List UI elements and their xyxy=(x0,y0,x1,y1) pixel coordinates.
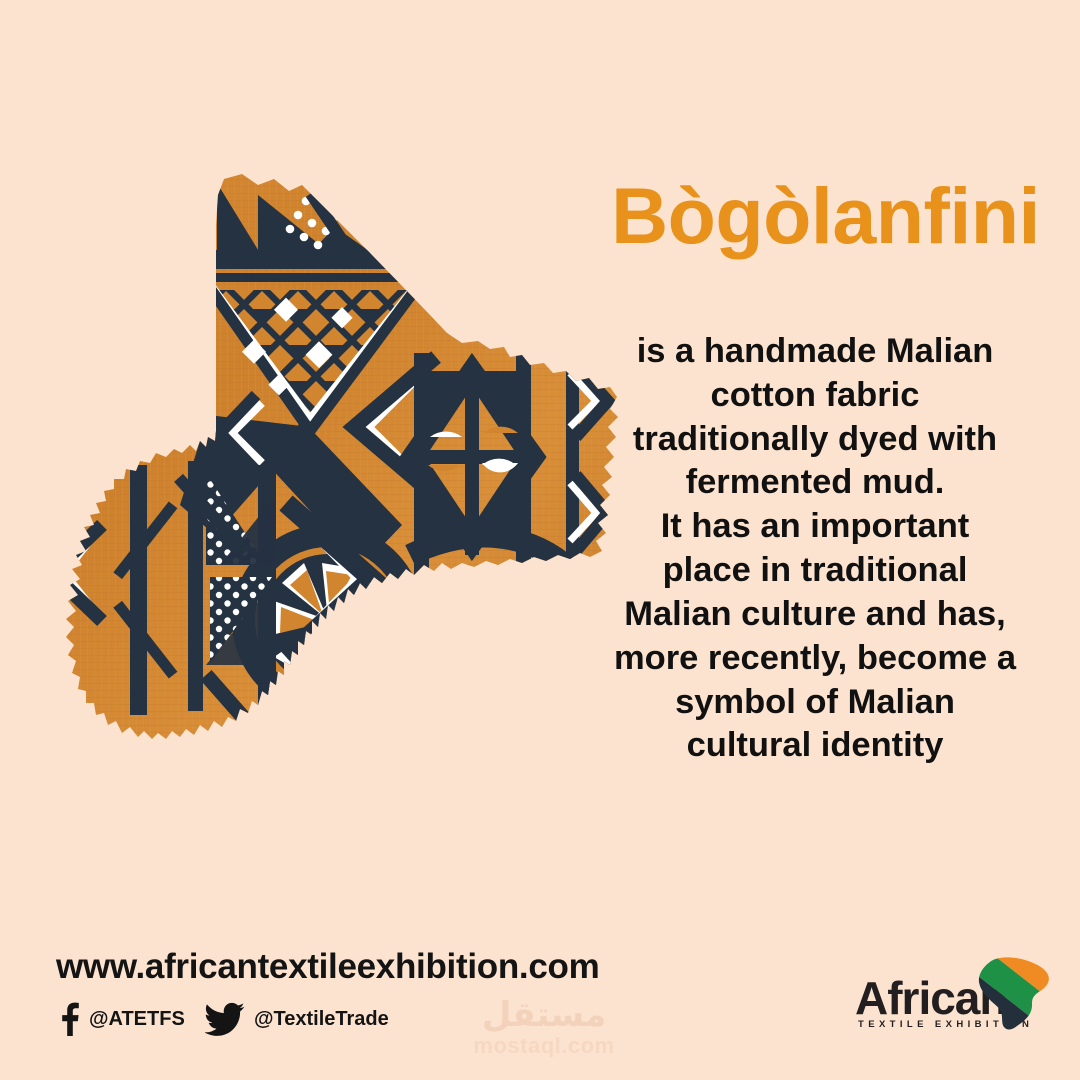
watermark-domain: mostaql.com xyxy=(466,1032,622,1060)
description-line: traditionally dyed with xyxy=(600,418,1030,462)
african-textile-exhibition-logo[interactable]: African TEXTILE EXHIBITION xyxy=(855,963,1055,1045)
description-line: more recently, become a xyxy=(600,637,1030,681)
page-title: Bògòlanfini xyxy=(570,176,1040,255)
description-line: It has an important xyxy=(600,505,1030,549)
social-link-twitter[interactable]: @TextileTrade xyxy=(205,1002,389,1036)
description-line: fermented mud. xyxy=(600,461,1030,505)
facebook-handle: @ATETFS xyxy=(89,1008,185,1031)
africa-continent-icon xyxy=(971,956,1057,1032)
mostaql-watermark: مستقل mostaql.com xyxy=(466,998,622,1060)
twitter-handle: @TextileTrade xyxy=(254,1008,389,1031)
description-line: is a handmade Malian xyxy=(600,330,1030,374)
poster-canvas: Bògòlanfini is a handmade Malian cotton … xyxy=(0,0,1080,1080)
description-line: cotton fabric xyxy=(600,374,1030,418)
mali-map-svg xyxy=(10,165,625,780)
description-line: Malian culture and has, xyxy=(600,593,1030,637)
facebook-icon xyxy=(58,1002,80,1036)
watermark-arabic: مستقل xyxy=(466,998,622,1032)
mali-map-illustration xyxy=(10,165,625,780)
description-line: place in traditional xyxy=(600,549,1030,593)
description-line: cultural identity xyxy=(600,724,1030,768)
social-link-facebook[interactable]: @ATETFS xyxy=(58,1002,185,1036)
twitter-icon xyxy=(205,1002,245,1036)
description-line: symbol of Malian xyxy=(600,681,1030,725)
description-text: is a handmade Malian cotton fabric tradi… xyxy=(600,330,1030,768)
website-url[interactable]: www.africantextileexhibition.com xyxy=(56,947,599,987)
